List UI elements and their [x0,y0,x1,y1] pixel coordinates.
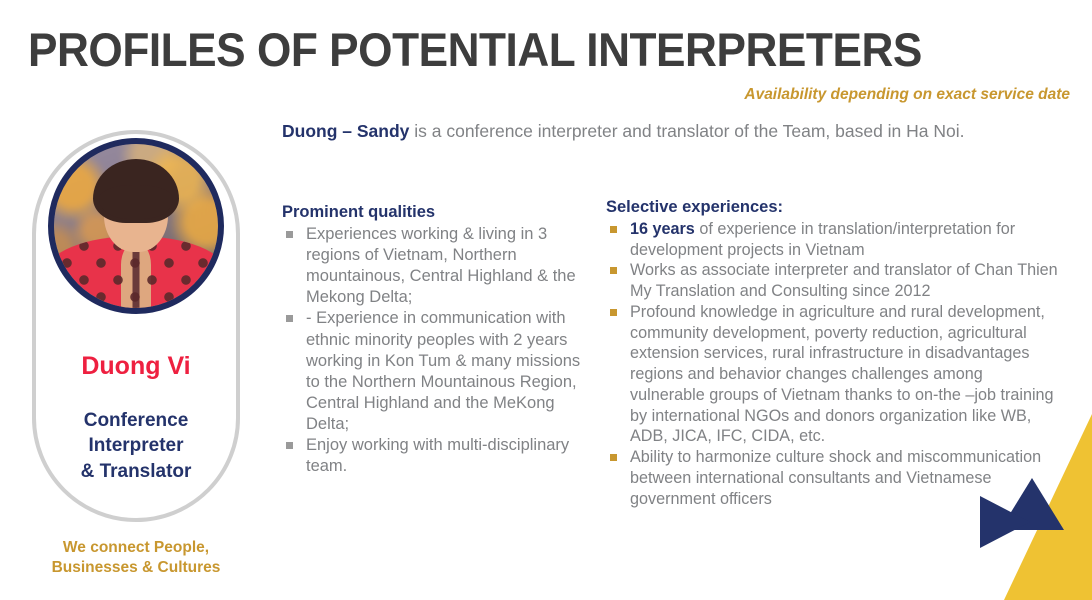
page-title: PROFILES OF POTENTIAL INTERPRETERS [28,26,922,73]
list-item: Works as associate interpreter and trans… [606,260,1061,301]
profile-role: ConferenceInterpreter& Translator [32,408,240,484]
list-item: Enjoy working with multi-disciplinary te… [282,435,592,477]
availability-note: Availability depending on exact service … [744,86,1070,104]
list-item-highlight: 16 years [630,220,695,238]
intro-description: is a conference interpreter and translat… [409,121,964,141]
prominent-qualities-column: Prominent qualities Experiences working … [282,203,592,477]
company-tagline: We connect People,Businesses & Cultures [22,538,250,578]
list-item: Ability to harmonize culture shock and m… [606,447,1061,509]
experiences-list: 16 years of experience in translation/in… [606,219,1061,509]
selective-experiences-column: Selective experiences: 16 years of exper… [606,198,1061,509]
slide: PROFILES OF POTENTIAL INTERPRETERS Avail… [0,0,1092,600]
qualities-list: Experiences working & living in 3 region… [282,224,592,477]
avatar [48,138,224,314]
list-item: 16 years of experience in translation/in… [606,219,1061,260]
portrait-photo [54,144,218,308]
profile-name: Duong Vi [32,352,240,381]
list-item: Profound knowledge in agriculture and ru… [606,302,1061,447]
interpreter-name: Duong – Sandy [282,121,409,141]
qualities-heading: Prominent qualities [282,203,592,222]
experiences-heading: Selective experiences: [606,198,1061,217]
list-item: Experiences working & living in 3 region… [282,224,592,308]
intro-line: Duong – Sandy is a conference interprete… [282,120,1072,143]
list-item: - Experience in communication with ethni… [282,308,592,435]
